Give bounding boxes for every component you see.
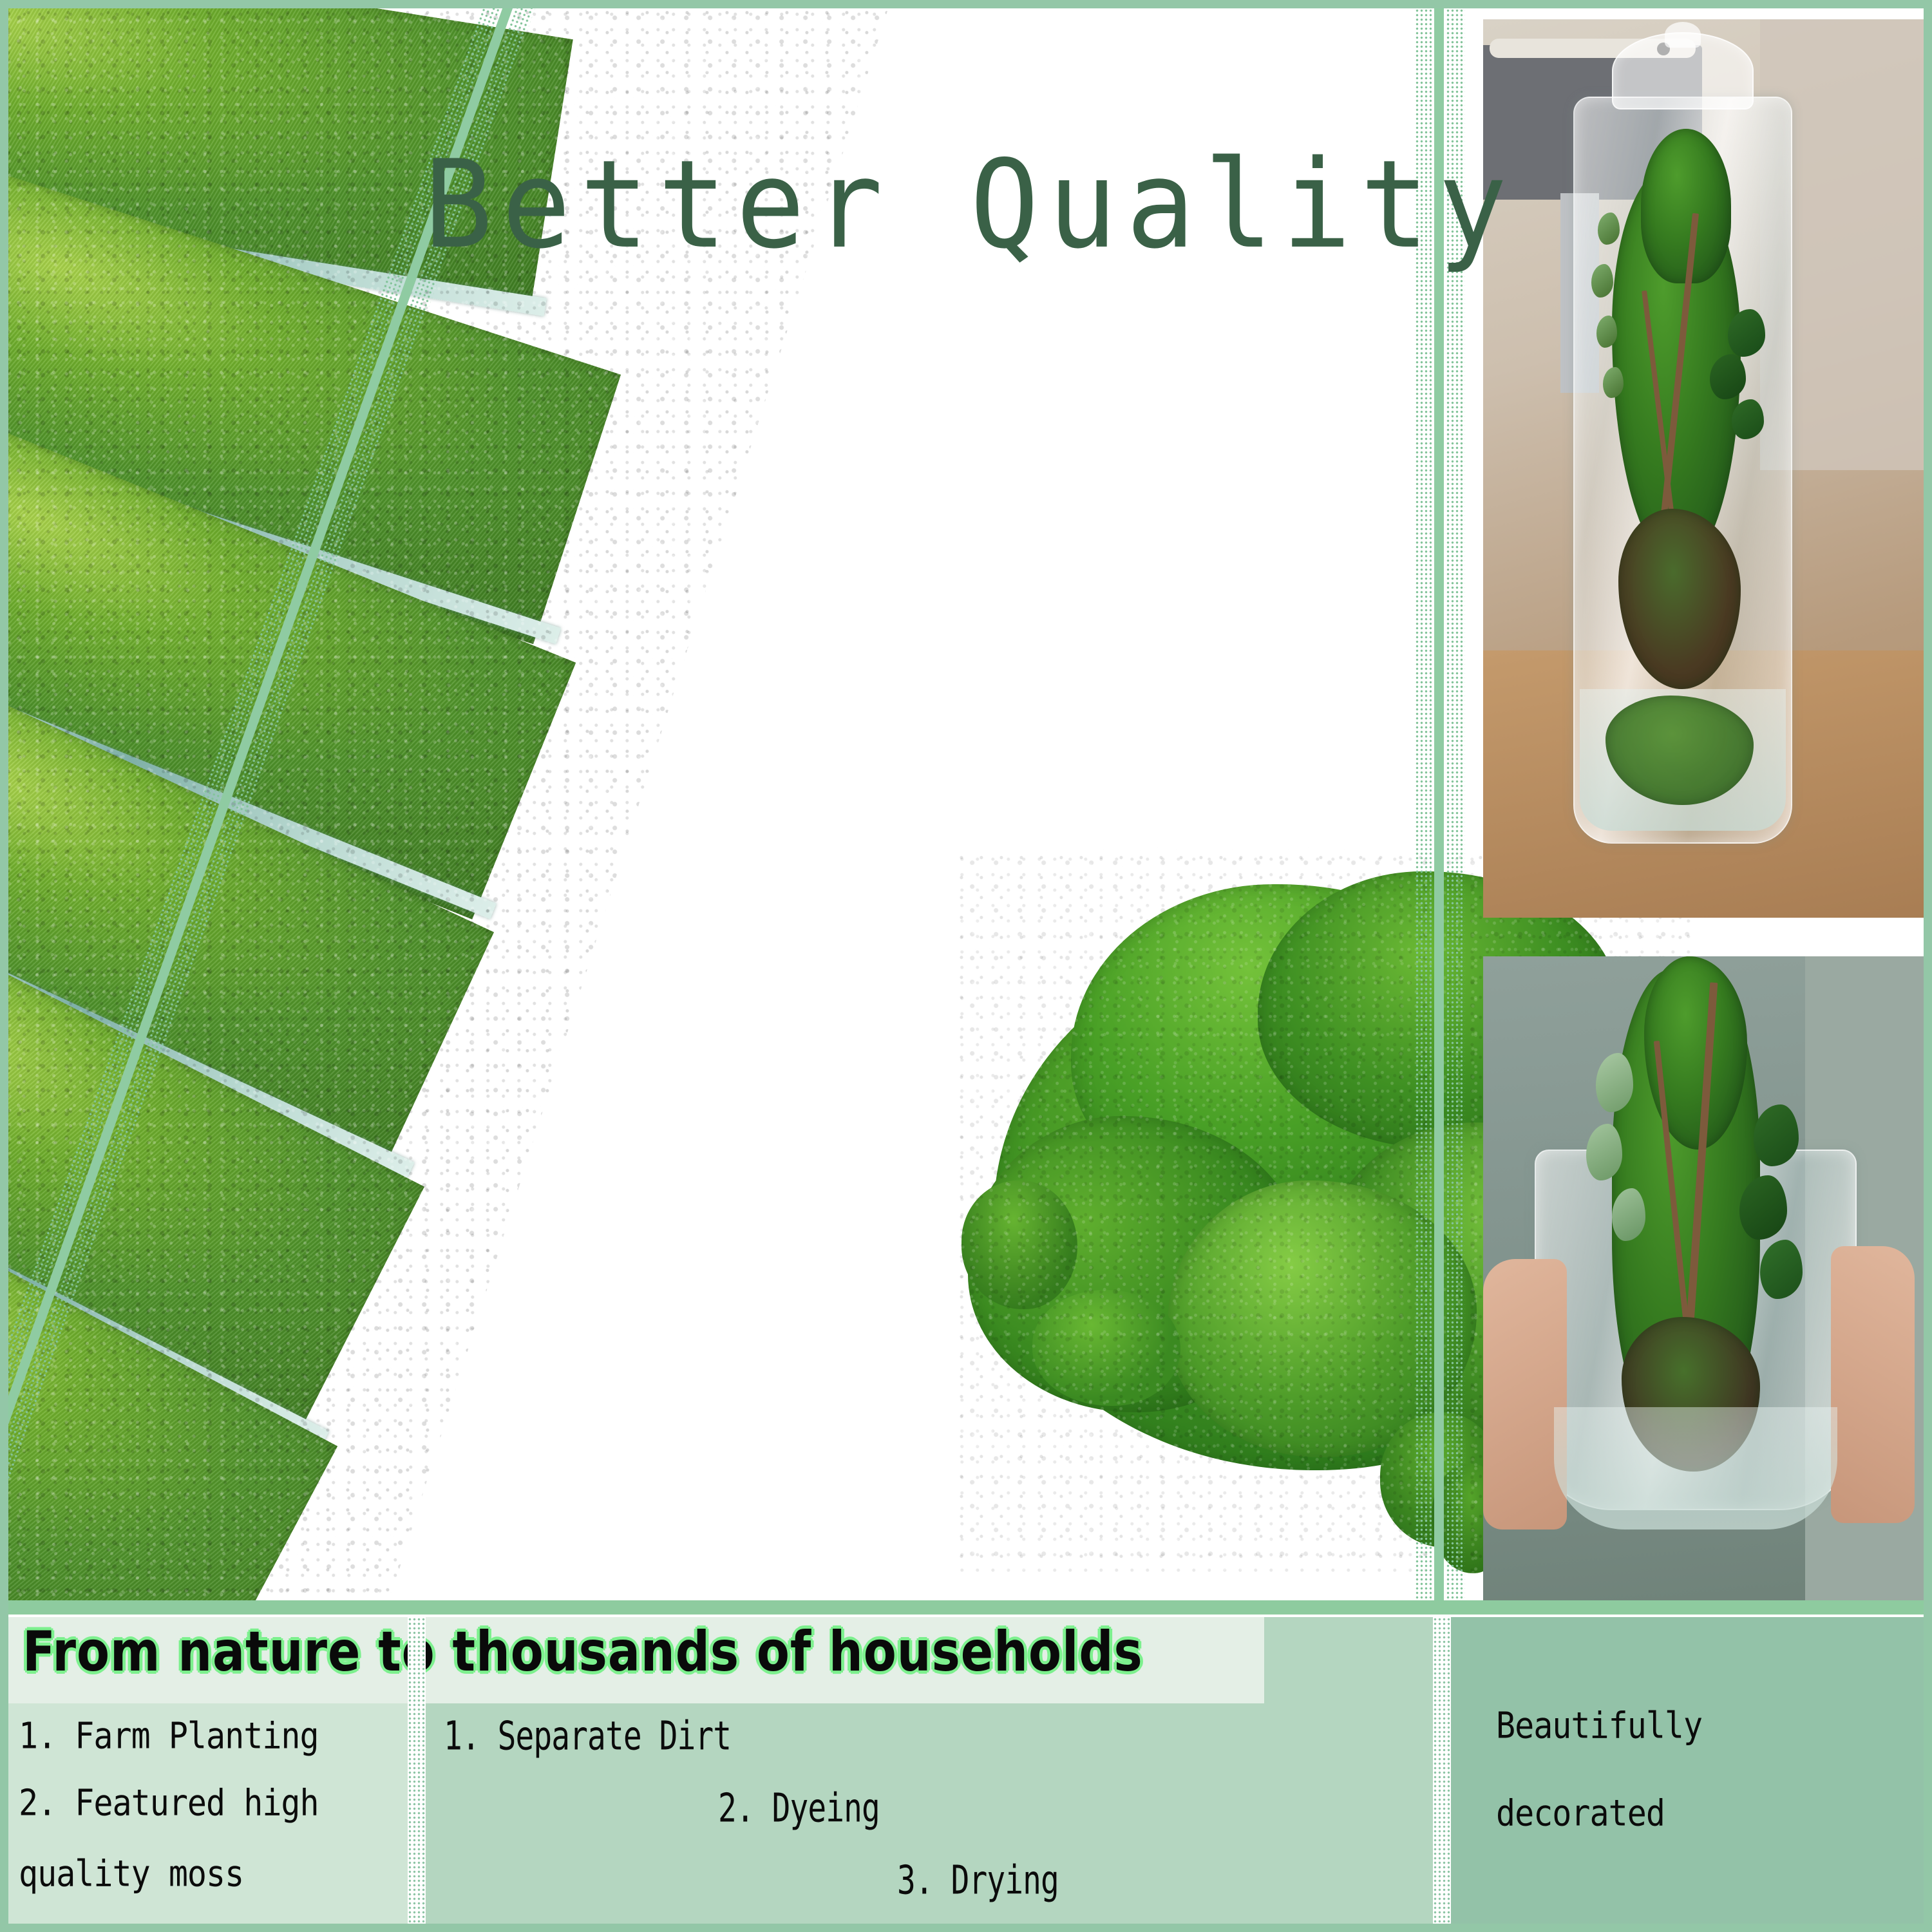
jar-tall-photo [1483, 19, 1924, 918]
green-separator-bar [8, 1600, 1924, 1615]
column-divider-right [1433, 1617, 1451, 1924]
mid-step-1: 1. Separate Dirt [444, 1714, 731, 1759]
bottom-section: From nature to thousands of households 1… [8, 1600, 1924, 1924]
headline-text: From nature to thousands of households [23, 1620, 1143, 1684]
column-divider-left [408, 1617, 426, 1924]
left-step-2-cont: quality moss [19, 1853, 243, 1895]
left-step-2: 2. Featured high [19, 1782, 319, 1824]
top-section: Better Quality [8, 8, 1924, 1600]
right-column-background [1451, 1617, 1924, 1924]
jar-hand-photo [1483, 956, 1924, 1600]
mid-step-2: 2. Dyeing [718, 1786, 880, 1832]
right-line-1: Beautifully [1496, 1705, 1702, 1747]
frame-inner: Better Quality From nature to thousands … [8, 8, 1924, 1924]
infographic-root: Better Quality From nature to thousands … [0, 0, 1932, 1932]
left-step-1: 1. Farm Planting [19, 1715, 319, 1757]
mid-step-3: 3. Drying [897, 1858, 1059, 1904]
right-line-2: decorated [1496, 1792, 1665, 1834]
page-title: Better Quality [424, 134, 1516, 275]
